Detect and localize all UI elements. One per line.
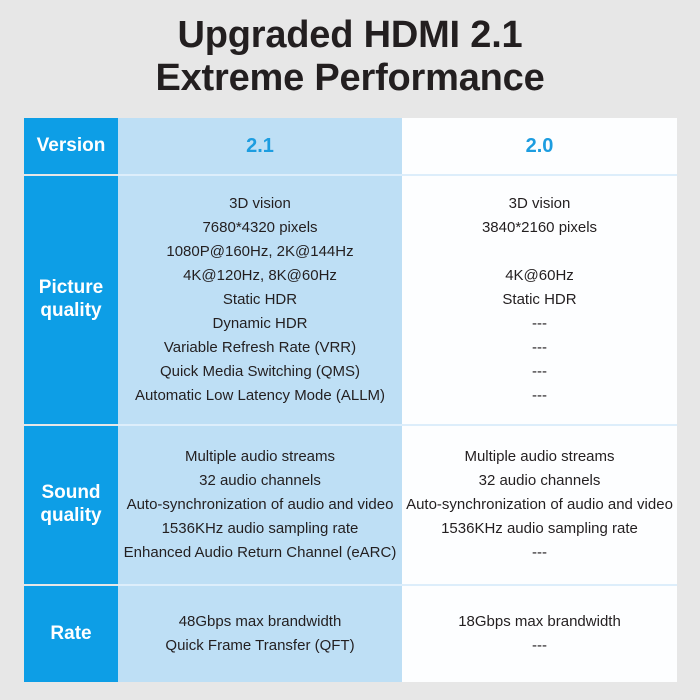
row-label-sound-quality: Sound quality [24, 425, 118, 585]
cell-picture-quality-v20: 3D vision3840*2160 pixels 4K@60HzStatic … [402, 175, 677, 425]
page-title-line-2: Extreme Performance [0, 57, 700, 100]
hdmi-comparison-table: Version 2.1 2.0 Picture quality 3D visio… [24, 118, 677, 682]
row-label-rate: Rate [24, 585, 118, 682]
spec-line: 1080P@160Hz, 2K@144Hz [120, 240, 400, 264]
sound-quality-v20-list: Multiple audio streams32 audio channelsA… [402, 433, 677, 577]
header-version-20: 2.0 [402, 118, 677, 175]
table-row-rate: Rate 48Gbps max brandwidthQuick Frame Tr… [24, 585, 677, 682]
spec-line: 7680*4320 pixels [120, 216, 400, 240]
spec-line: Static HDR [404, 288, 675, 312]
spec-line: Auto-synchronization of audio and video [120, 493, 400, 517]
spec-line: Automatic Low Latency Mode (ALLM) [120, 384, 400, 408]
spec-line: --- [404, 384, 675, 408]
cell-sound-quality-v21: Multiple audio streams32 audio channelsA… [118, 425, 402, 585]
cell-rate-v20: 18Gbps max brandwidth--- [402, 585, 677, 682]
picture-quality-v21-list: 3D vision7680*4320 pixels1080P@160Hz, 2K… [118, 180, 402, 420]
row-label-picture-quality-line-2: quality [24, 300, 118, 323]
spec-line [404, 240, 675, 264]
spec-line: --- [404, 336, 675, 360]
table-header-row: Version 2.1 2.0 [24, 118, 677, 175]
row-label-sound-quality-line-1: Sound [24, 482, 118, 505]
spec-line: Enhanced Audio Return Channel (eARC) [120, 541, 400, 565]
spec-line: 1536KHz audio sampling rate [120, 517, 400, 541]
spec-line: Quick Frame Transfer (QFT) [120, 634, 400, 658]
sound-quality-v21-list: Multiple audio streams32 audio channelsA… [118, 433, 402, 577]
spec-line: Variable Refresh Rate (VRR) [120, 336, 400, 360]
row-label-rate-line-1: Rate [24, 623, 118, 646]
spec-line: Dynamic HDR [120, 312, 400, 336]
spec-line: 4K@120Hz, 8K@60Hz [120, 264, 400, 288]
spec-line: --- [404, 312, 675, 336]
table-row-picture-quality: Picture quality 3D vision7680*4320 pixel… [24, 175, 677, 425]
spec-line: Static HDR [120, 288, 400, 312]
spec-line: 1536KHz audio sampling rate [404, 517, 675, 541]
spec-line: 32 audio channels [120, 469, 400, 493]
spec-line: --- [404, 634, 675, 658]
header-version-21: 2.1 [118, 118, 402, 175]
rate-v20-list: 18Gbps max brandwidth--- [402, 598, 677, 670]
spec-line: 18Gbps max brandwidth [404, 610, 675, 634]
cell-sound-quality-v20: Multiple audio streams32 audio channelsA… [402, 425, 677, 585]
spec-line: 3D vision [120, 192, 400, 216]
page-title-line-1: Upgraded HDMI 2.1 [0, 14, 700, 57]
row-label-picture-quality-line-1: Picture [24, 277, 118, 300]
spec-line: --- [404, 541, 675, 565]
header-label-version: Version [24, 118, 118, 175]
row-label-sound-quality-line-2: quality [24, 505, 118, 528]
spec-line: Multiple audio streams [404, 445, 675, 469]
spec-line: 48Gbps max brandwidth [120, 610, 400, 634]
spec-line: Quick Media Switching (QMS) [120, 360, 400, 384]
cell-rate-v21: 48Gbps max brandwidthQuick Frame Transfe… [118, 585, 402, 682]
table-row-sound-quality: Sound quality Multiple audio streams32 a… [24, 425, 677, 585]
spec-line: Auto-synchronization of audio and video [404, 493, 675, 517]
cell-picture-quality-v21: 3D vision7680*4320 pixels1080P@160Hz, 2K… [118, 175, 402, 425]
spec-line: 32 audio channels [404, 469, 675, 493]
header-label-version-text: Version [24, 135, 118, 158]
spec-line: 4K@60Hz [404, 264, 675, 288]
comparison-infographic: Upgraded HDMI 2.1 Extreme Performance Ve… [0, 0, 700, 700]
spec-line: --- [404, 360, 675, 384]
picture-quality-v20-list: 3D vision3840*2160 pixels 4K@60HzStatic … [402, 180, 677, 420]
spec-line: 3840*2160 pixels [404, 216, 675, 240]
row-label-picture-quality: Picture quality [24, 175, 118, 425]
rate-v21-list: 48Gbps max brandwidthQuick Frame Transfe… [118, 598, 402, 670]
spec-line: Multiple audio streams [120, 445, 400, 469]
spec-line: 3D vision [404, 192, 675, 216]
page-title: Upgraded HDMI 2.1 Extreme Performance [0, 14, 700, 101]
